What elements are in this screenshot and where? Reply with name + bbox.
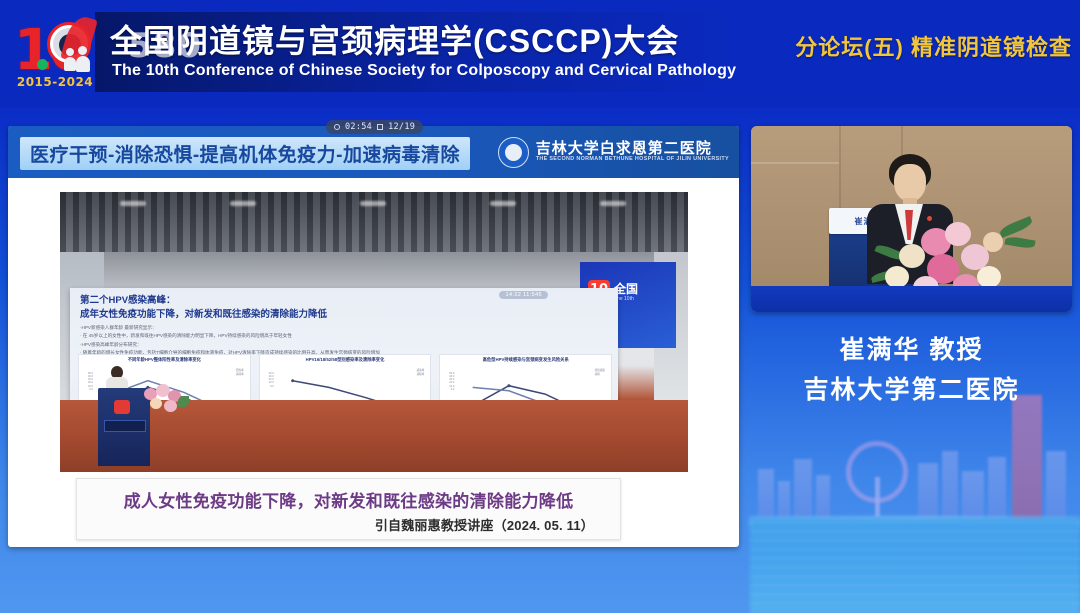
clock-icon	[334, 124, 340, 130]
stream-timestamp: 02:54 12/19	[326, 120, 423, 134]
mini-chart-title: 高危型HPV持续感染与宫颈病变发生风险关系	[443, 357, 608, 362]
conference-title-en: The 10th Conference of Chinese Society f…	[112, 62, 736, 80]
inner-slide-title-line1: 第二个HPV感染高峰：	[80, 294, 610, 308]
inner-slide-body-3: ·HPV感染高峰年龄分布研究：	[80, 341, 610, 349]
speaker-video-panel[interactable]: 崔满华	[751, 126, 1072, 312]
ferris-wheel-icon	[846, 441, 908, 503]
speaker-organization: 吉林大学第二医院	[751, 370, 1072, 406]
hospital-name-en: THE SECOND NORMAN BETHUNE HOSPITAL OF JI…	[536, 157, 729, 163]
caption-main-text: 成人女性免疫功能下降，对新发和既往感染的清除能力降低	[77, 487, 620, 512]
podium-logo-icon	[114, 400, 130, 414]
ceiling	[60, 192, 688, 254]
mini-chart-title: HPV16/18/52/58型别感染率及清除率变化	[263, 357, 428, 362]
inner-slide-body-1: ·HPV新感染人群年龄 最新研究显示：	[80, 324, 610, 332]
anniversary-years: 2015-2024	[10, 75, 100, 89]
logo-green-dot	[37, 59, 48, 70]
city-skyline-watermark	[750, 403, 1080, 613]
presentation-slide[interactable]: 医疗干预-消除恐惧-提高机体免疫力-加速病毒清除 吉林大学白求恩第二医院 THE…	[8, 126, 739, 547]
inner-slide-body-2: · 在 45岁以上的女性中，新发和既往HPV感染的清除能力明显下降，HPV持续感…	[80, 332, 610, 340]
hall-flowers	[140, 382, 196, 416]
page-header: 10 2015-2024 全国阴道镜与宫颈病理学(CSCCP)大会 580 Th…	[0, 0, 1080, 108]
mini-chart-title: 不同年龄HPV整体阳性率及清除率变化	[82, 357, 247, 362]
timestamp-date: 12/19	[388, 122, 415, 132]
slide-title: 医疗干预-消除恐惧-提高机体免疫力-加速病毒清除	[20, 137, 470, 170]
speaker-face	[894, 164, 926, 202]
conference-broadcast-page: 10 2015-2024 全国阴道镜与宫颈病理学(CSCCP)大会 580 Th…	[0, 0, 1080, 613]
speaker-name: 崔满华 教授	[751, 330, 1072, 366]
logo-people-icon	[64, 46, 94, 72]
speaker-info: 崔满华 教授 吉林大学第二医院	[751, 330, 1072, 406]
hospital-seal-icon	[498, 137, 529, 168]
slide-caption-box: 成人女性免疫功能下降，对新发和既往感染的清除能力降低 引自魏丽惠教授讲座（202…	[76, 478, 621, 540]
calendar-icon	[377, 124, 383, 130]
timestamp-time: 02:54	[345, 122, 372, 132]
stream-watermark-number: 580	[128, 26, 202, 66]
mini-chart-legend: 阳性率清除率	[236, 369, 244, 376]
video-bottom-band	[751, 286, 1072, 312]
mini-chart-legend: 持续感染清除	[595, 369, 605, 376]
hospital-name-cn: 吉林大学白求恩第二医院	[536, 141, 729, 157]
hospital-logo: 吉林大学白求恩第二医院 THE SECOND NORMAN BETHUNE HO…	[498, 134, 729, 170]
inner-slide-title-line2: 成年女性免疫功能下降，对新发和既往感染的清除能力降低	[80, 308, 610, 322]
anniversary-logo-icon: 10 2015-2024	[8, 12, 100, 96]
caption-source-text: 引自魏丽惠教授讲座（2024. 05. 11）	[375, 515, 594, 534]
lecture-hall-photo: 10 全国 The 10th 14:22 11:545 第二个HPV感染高峰： …	[60, 192, 688, 472]
mini-chart-legend: 感染率清除率	[417, 369, 425, 376]
session-label: 分论坛(五) 精准阴道镜检查	[795, 30, 1072, 62]
